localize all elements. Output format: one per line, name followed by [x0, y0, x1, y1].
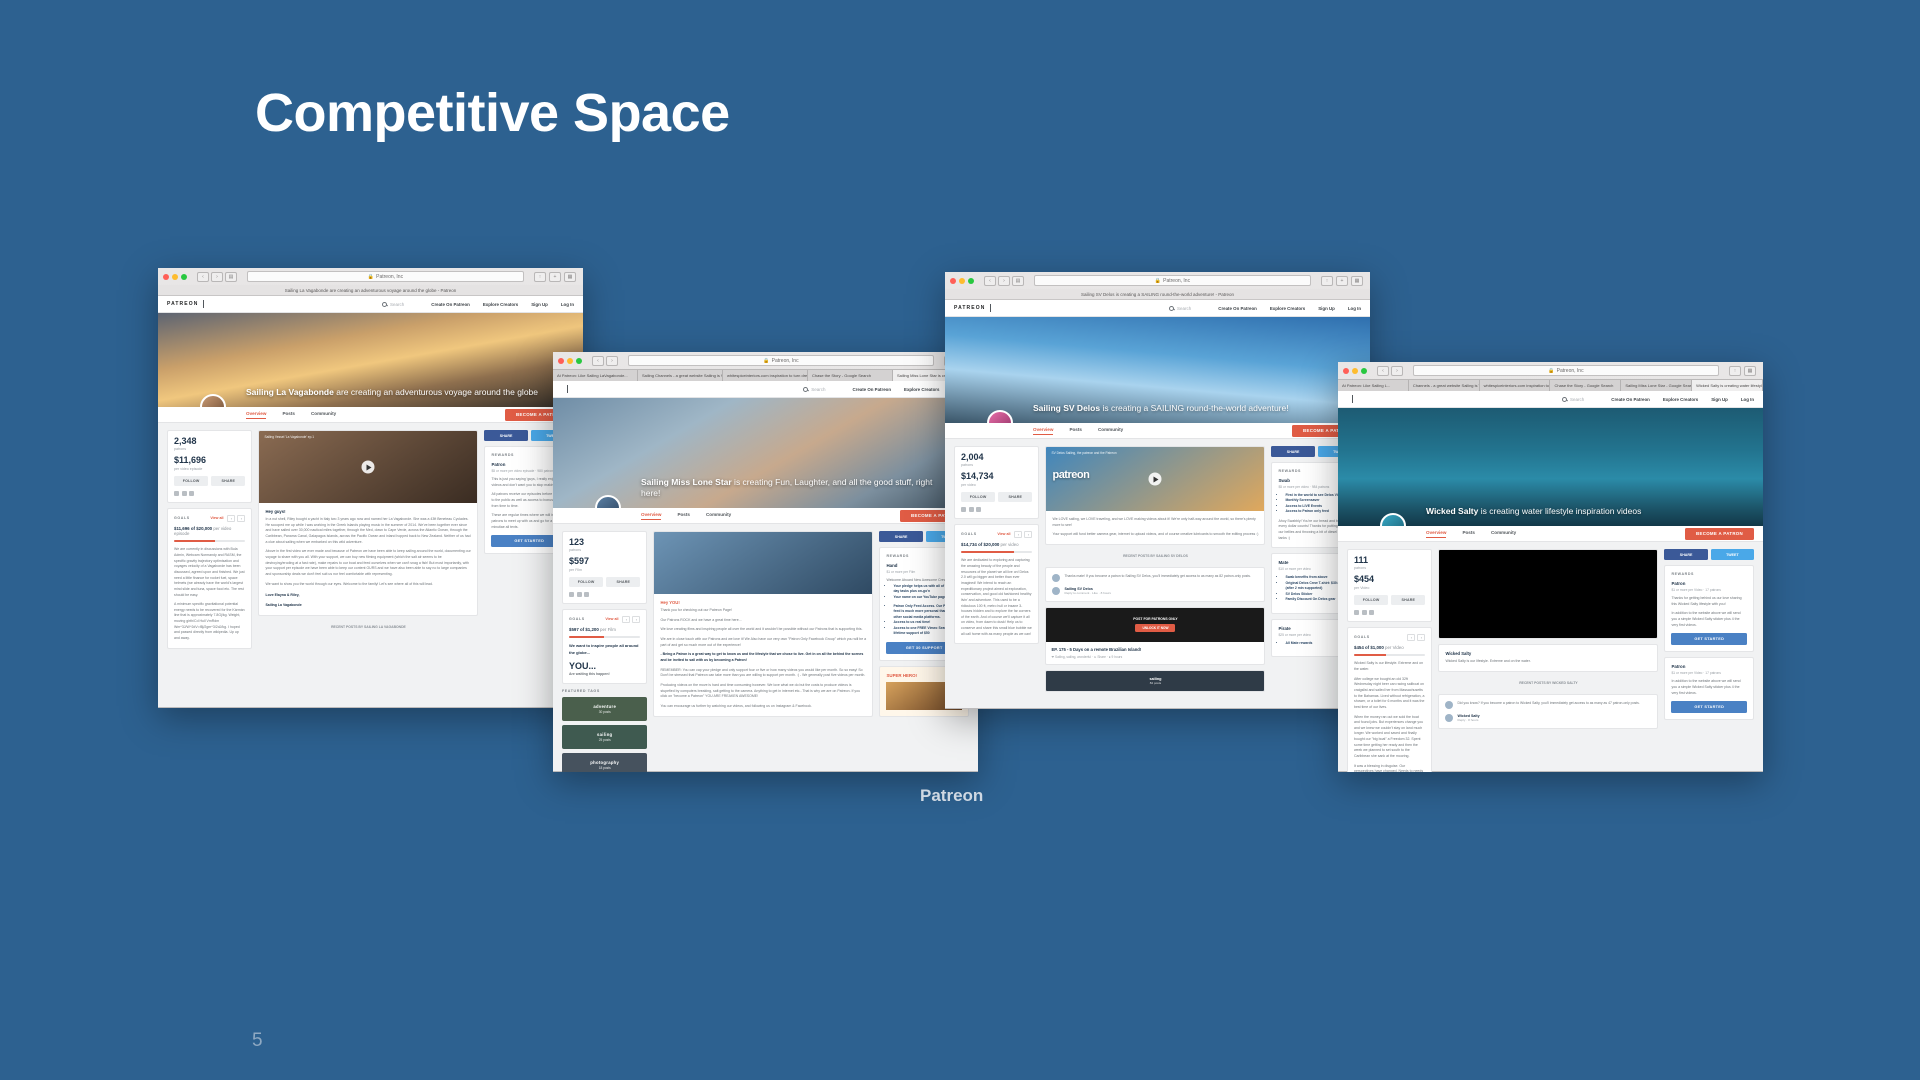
text-cursor: [990, 304, 991, 312]
profile-tabbar[interactable]: Overview Posts Community BECOME A PATRON: [945, 423, 1370, 439]
next-goal-icon[interactable]: ›: [632, 616, 640, 623]
minimize-icon[interactable]: [959, 278, 965, 284]
goal-big-text: YOU...: [569, 662, 640, 671]
tabs-icon[interactable]: ▦: [564, 272, 576, 282]
browser-tab[interactable]: Chase the Story - Google Search: [808, 370, 893, 381]
back-icon[interactable]: ‹: [1377, 366, 1389, 376]
browser-window-vagabonde[interactable]: ‹ › ▤ 🔒 Patreon, Inc ↑ + ▦ Sailing La Va…: [158, 268, 583, 708]
url-text: Patreon, Inc: [772, 358, 799, 364]
post-overlay-text: POST FOR PATRONS ONLY: [1133, 617, 1177, 621]
post-video-card[interactable]: [1438, 549, 1658, 639]
right-column: SHARE TWEET REWARDS Patron $1 or more pe…: [1664, 549, 1754, 720]
share-button[interactable]: SHARE: [606, 577, 640, 587]
patron-count: 2,348: [174, 437, 245, 446]
tag-card[interactable]: photography 18 posts: [562, 753, 647, 772]
tabs-icon[interactable]: ▦: [1351, 276, 1363, 286]
comment-card: Did you know? If you become a patron to …: [1438, 694, 1658, 729]
back-icon[interactable]: ‹: [197, 272, 209, 282]
browser-tab[interactable]: whitespiceinteriors.com inspiration to t…: [1480, 380, 1551, 391]
nav-sign-up[interactable]: Sign Up: [531, 302, 548, 307]
facebook-share-button[interactable]: SHARE: [1271, 446, 1314, 457]
patreon-page: Search Create On Patreon Explore Creator…: [1338, 391, 1763, 771]
nav-explore-creators[interactable]: Explore Creators: [904, 387, 939, 392]
close-icon[interactable]: [950, 278, 956, 284]
goal-progress-bar: [174, 540, 245, 542]
nav-buttons[interactable]: ‹ ›: [592, 356, 618, 366]
share-button[interactable]: SHARE: [211, 476, 245, 486]
post-signoff: Love Elayna & Riley,: [265, 593, 471, 599]
browser-chrome: ‹ › 🔒 Patreon, Inc ↑ ▦ At Patreon: Like …: [553, 352, 978, 772]
tag-card[interactable]: adventure 30 posts: [562, 697, 647, 721]
goal-description-4: It was a blessing in disguise. Our persp…: [1354, 764, 1425, 772]
search-placeholder: Search: [811, 387, 825, 392]
page-body: 123 patrons $597 per Film FOLLOW SHARE: [553, 524, 978, 772]
post-body-8: You can encourage us further by watching…: [660, 704, 866, 710]
tabs-icon[interactable]: ▦: [1744, 366, 1756, 376]
minimize-icon[interactable]: [172, 274, 178, 280]
forward-icon[interactable]: ›: [211, 272, 223, 282]
post-body: We LOVE sailing, we LOVE traveling, and …: [1052, 517, 1258, 528]
creator-tagline: are creating an adventurous voyage aroun…: [334, 387, 538, 397]
close-icon[interactable]: [163, 274, 169, 280]
pledge-unit: per video episode: [174, 467, 245, 471]
tag-name: adventure: [562, 704, 647, 709]
browser-toolbar[interactable]: ‹ › ▤ 🔒 Patreon, Inc ↑ + ▦: [945, 272, 1370, 289]
patron-count: 123: [569, 538, 640, 547]
tag-chip-card[interactable]: sailing 82 posts: [1045, 670, 1265, 692]
share-button[interactable]: SHARE: [998, 492, 1032, 502]
goals-header: GOALS View all ‹ ›: [174, 515, 245, 522]
comment-text: Thanks mate! If you become a patron to S…: [1064, 574, 1250, 579]
featured-tags-section: FEATURED TAGS adventure 30 posts sailing…: [562, 689, 647, 772]
twitter-icon[interactable]: [969, 507, 974, 512]
minimize-icon[interactable]: [1352, 368, 1358, 374]
goal-arrows[interactable]: ‹ ›: [1014, 531, 1032, 538]
goal-arrows[interactable]: ‹ ›: [1407, 634, 1425, 641]
tab-community[interactable]: Community: [1491, 530, 1516, 537]
twitter-icon[interactable]: [1362, 610, 1367, 615]
page-number: 5: [252, 1030, 263, 1052]
lock-icon: 🔒: [1548, 368, 1554, 374]
patreon-page: Search Create On Patreon Explore Creator…: [553, 381, 978, 771]
addtab-icon[interactable]: +: [549, 272, 561, 282]
patreon-navbar[interactable]: Search Create On Patreon Explore Creator…: [553, 381, 978, 398]
post-card: Hey YOU! Thank you for checking out our …: [653, 531, 873, 717]
profile-tabbar[interactable]: Overview Posts Community BECOME A PATRON: [158, 407, 583, 423]
avatar[interactable]: [1380, 513, 1406, 526]
tab-overview[interactable]: Overview: [641, 512, 661, 520]
video-caption: Sailing Vessel 'La Vagabonde' ep.1: [264, 435, 314, 439]
window-traffic-lights[interactable]: [163, 274, 187, 280]
text-cursor: [567, 385, 568, 393]
creator-name: Sailing La Vagabonde: [246, 387, 334, 397]
search-icon: [1169, 306, 1174, 311]
action-buttons[interactable]: FOLLOW SHARE: [174, 476, 245, 486]
search-placeholder: Search: [390, 302, 404, 307]
recent-posts-banner: RECENT POSTS BY SAILING SV DELOS: [1045, 550, 1265, 562]
post-body-6: REMEMBER: You can cap your pledge and on…: [660, 668, 866, 679]
tab-posts[interactable]: Posts: [1069, 427, 1082, 434]
instagram-icon[interactable]: [584, 592, 589, 597]
browser-tab[interactable]: Sailing Channels - a great website Saili…: [638, 370, 723, 381]
maximize-icon[interactable]: [576, 358, 582, 364]
play-icon[interactable]: [362, 461, 375, 474]
facebook-share-button[interactable]: SHARE: [484, 430, 527, 441]
browser-chrome: ‹ › ▤ 🔒 Patreon, Inc ↑ + ▦ Sailing SV De…: [945, 272, 1370, 709]
avatar[interactable]: [987, 410, 1013, 423]
nav-buttons[interactable]: ‹ › ▤: [984, 276, 1024, 286]
toolbar-right[interactable]: ↑ ▦: [1729, 366, 1756, 376]
comment-meta: Reply to comment · Like · 8 hours: [1064, 591, 1110, 595]
nav-create-on-patreon[interactable]: Create On Patreon: [431, 302, 470, 307]
url-text: Patreon, Inc: [1163, 278, 1190, 284]
close-icon[interactable]: [1343, 368, 1349, 374]
comment-card: Thanks mate! If you become a patron to S…: [1045, 567, 1265, 602]
social-share-row[interactable]: SHARE TWEET: [1664, 549, 1754, 560]
stats-card: 2,004 patrons $14,734 per video FOLLOW S…: [954, 446, 1039, 519]
rewards-label: REWARDS: [1671, 572, 1747, 576]
instagram-icon[interactable]: [1369, 610, 1374, 615]
goals-label: GOALS: [569, 617, 585, 621]
share-button[interactable]: SHARE: [1391, 595, 1425, 605]
pledge-amount: $14,734: [961, 472, 1032, 481]
reward-tier-sub: $1 or more per Video · 17 patrons: [1671, 671, 1747, 675]
address-bar[interactable]: 🔒 Patreon, Inc: [1413, 365, 1719, 376]
creator-name: Wicked Salty: [1426, 506, 1478, 516]
hero-banner: Sailing SV Delos is creating a SAILING r…: [945, 317, 1370, 423]
episode-meta: ❤ Sailing, sailing, wonderful · ➤ Share …: [1051, 655, 1259, 659]
browser-toolbar[interactable]: ‹ › ▤ 🔒 Patreon, Inc ↑ + ▦: [158, 268, 583, 285]
nav-buttons[interactable]: ‹ ›: [1377, 366, 1403, 376]
goals-card: GOALS View all ‹ › $597 of $1,200 per Fi…: [562, 609, 647, 684]
goal-description-2: A minimum specific gravitational potenti…: [174, 602, 245, 642]
goal-amount: $597 of $1,200 per Film: [569, 627, 640, 632]
play-icon[interactable]: [1149, 473, 1162, 486]
slide-root: Competitive Space ‹ › ▤ 🔒 Patreon, Inc: [0, 0, 1920, 1080]
avatar[interactable]: [1052, 574, 1060, 582]
avatar[interactable]: [595, 495, 621, 508]
browser-toolbar[interactable]: ‹ › 🔒 Patreon, Inc ↑ ▦: [553, 352, 978, 369]
slide-caption: Patreon: [920, 786, 983, 806]
goal-description: We are currently in discussions with Bul…: [174, 547, 245, 598]
tab-posts[interactable]: Posts: [677, 512, 690, 519]
browser-tab[interactable]: Channels - a great website Sailing is Va…: [1409, 380, 1480, 391]
video-caption: SV Delos Sailing, the patreon and the Pa…: [1051, 451, 1116, 455]
browser-window-wickedsalty[interactable]: ‹ › 🔒 Patreon, Inc ↑ ▦ At Patreon: Like …: [1338, 362, 1763, 772]
goals-header: GOALS View all ‹ ›: [569, 616, 640, 623]
post-body-4: We are in close touch with our Patrons a…: [660, 637, 866, 648]
post-body-3: We love creating films and inspiring peo…: [660, 627, 866, 633]
patreon-navbar[interactable]: Search Create On Patreon Explore Creator…: [1338, 391, 1763, 408]
get-started-button-2[interactable]: GET STARTED: [1671, 701, 1747, 713]
goals-card: GOALS View all ‹ › $14,734 of $20,000 pe…: [954, 524, 1039, 645]
become-patron-button[interactable]: BECOME A PATRON: [1685, 528, 1754, 540]
toolbar-right[interactable]: ↑ + ▦: [1321, 276, 1363, 286]
tab-posts[interactable]: Posts: [1462, 530, 1475, 537]
tab-community[interactable]: Community: [1098, 427, 1123, 434]
creator-name: Sailing Miss Lone Star: [641, 477, 732, 487]
patreon-page: PATREON Search Create On Patreon Explore…: [158, 296, 583, 707]
nav-create-on-patreon[interactable]: Create On Patreon: [1218, 306, 1257, 311]
addtab-icon[interactable]: +: [1336, 276, 1348, 286]
browser-window-delos[interactable]: ‹ › ▤ 🔒 Patreon, Inc ↑ + ▦ Sailing SV De…: [945, 272, 1370, 709]
goal-amount: $14,734 of $20,000 per video: [961, 542, 1032, 547]
twitter-icon[interactable]: [182, 491, 187, 496]
post-card: Sailing Vessel 'La Vagabonde' ep.1 Hey g…: [258, 430, 478, 616]
minimize-icon[interactable]: [567, 358, 573, 364]
goal-description-2: After college we bought an old 32ft Wedn…: [1354, 677, 1425, 711]
sidebar-icon[interactable]: ▤: [225, 272, 237, 282]
hero-banner: Sailing Miss Lone Star is creating Fun, …: [553, 398, 978, 508]
browser-tab-active[interactable]: Wicked Salty is creating water lifestyle…: [1692, 380, 1763, 391]
action-buttons[interactable]: FOLLOW SHARE: [1354, 595, 1425, 605]
tab-community[interactable]: Community: [706, 512, 731, 519]
get-started-button[interactable]: GET STARTED: [1671, 633, 1747, 645]
window-traffic-lights[interactable]: [558, 358, 582, 364]
hero-headline: Sailing Miss Lone Star is creating Fun, …: [641, 477, 947, 500]
patreon-logo[interactable]: PATREON: [954, 305, 985, 311]
toolbar-right[interactable]: ↑ + ▦: [534, 272, 576, 282]
instagram-icon[interactable]: [189, 491, 194, 496]
post-image[interactable]: [654, 532, 872, 594]
follow-button[interactable]: FOLLOW: [961, 492, 995, 502]
left-column: 123 patrons $597 per Film FOLLOW SHARE: [562, 531, 647, 772]
post-video[interactable]: SV Delos Sailing, the patreon and the Pa…: [1046, 447, 1264, 511]
maximize-icon[interactable]: [181, 274, 187, 280]
facebook-icon[interactable]: [569, 592, 574, 597]
browser-toolbar[interactable]: ‹ › 🔒 Patreon, Inc ↑ ▦: [1338, 362, 1763, 379]
patreon-navbar[interactable]: PATREON Search Create On Patreon Explore…: [945, 300, 1370, 317]
goal-progress-bar: [1354, 654, 1425, 656]
goal-amount: $454 of $1,000 per Video: [1354, 645, 1425, 650]
search-input[interactable]: Search: [1169, 306, 1191, 311]
search-icon: [382, 302, 387, 307]
facebook-icon[interactable]: [174, 491, 179, 496]
nav-sign-up[interactable]: Sign Up: [1318, 306, 1335, 311]
window-title: Sailing SV Delos is creating a SAILING r…: [945, 289, 1370, 300]
search-input[interactable]: Search: [803, 387, 825, 392]
post-title: Hey guys!: [265, 509, 471, 514]
patreon-logo[interactable]: PATREON: [167, 301, 198, 307]
browser-tab[interactable]: At Patreon: Like Sailing LaVagabonde...: [553, 370, 638, 381]
reward-tier-sub: $1 or more per Video · 17 patrons: [1671, 588, 1747, 592]
featured-tags-label: FEATURED TAGS: [562, 689, 647, 693]
view-all-link[interactable]: View all: [210, 516, 223, 520]
stats-card: 123 patrons $597 per Film FOLLOW SHARE: [562, 531, 647, 604]
view-all-link[interactable]: View all: [605, 617, 618, 621]
tag-count: 30 posts: [562, 710, 647, 714]
tag-chip-count: 82 posts: [1052, 681, 1258, 685]
pledge-amount: $11,696: [174, 456, 245, 465]
tab-posts[interactable]: Posts: [282, 411, 295, 418]
social-links[interactable]: [174, 491, 245, 496]
share-icon[interactable]: ↑: [534, 272, 546, 282]
middle-column: Sailing Vessel 'La Vagabonde' ep.1 Hey g…: [258, 430, 478, 633]
patrons-label: patrons: [1354, 566, 1425, 570]
forward-icon[interactable]: ›: [1391, 366, 1403, 376]
share-icon[interactable]: ↑: [1729, 366, 1741, 376]
window-traffic-lights[interactable]: [1343, 368, 1367, 374]
follow-button[interactable]: FOLLOW: [174, 476, 208, 486]
forward-icon[interactable]: ›: [998, 276, 1010, 286]
tag-count: 18 posts: [562, 766, 647, 770]
nav-create-on-patreon[interactable]: Create On Patreon: [852, 387, 891, 392]
nav-log-in[interactable]: Log In: [1741, 397, 1754, 402]
post-body-2: Our Patrons ROCK and we have a great tim…: [660, 618, 866, 624]
facebook-icon[interactable]: [961, 507, 966, 512]
page-body: 2,004 patrons $14,734 per video FOLLOW S…: [945, 439, 1370, 699]
nav-explore-creators[interactable]: Explore Creators: [1663, 397, 1698, 402]
back-icon[interactable]: ‹: [592, 356, 604, 366]
post-body-5: - Being a Patron is a great way to get t…: [660, 652, 866, 663]
patron-count: 2,004: [961, 453, 1032, 462]
goal-description-3: When the money ran out we sold the boat …: [1354, 715, 1425, 760]
browser-tab[interactable]: whitespiceinteriors.com inspiration to t…: [723, 370, 808, 381]
post-title: Hey YOU!: [660, 600, 866, 605]
post-body: In a nut shell, Riley bought a yacht in …: [265, 517, 471, 545]
goal-description: We are dedicated to exploring and captur…: [961, 558, 1032, 637]
goal-progress-bar: [569, 636, 640, 638]
page-body: 111 patrons $454 per Video FOLLOW SHARE: [1338, 542, 1763, 772]
patreon-navbar[interactable]: PATREON Search Create On Patreon Explore…: [158, 296, 583, 313]
avatar[interactable]: [1445, 714, 1453, 722]
text-cursor: [203, 300, 204, 308]
pledge-unit: per Video: [1354, 586, 1425, 590]
next-goal-icon[interactable]: ›: [1417, 634, 1425, 641]
address-bar[interactable]: 🔒 Patreon, Inc: [628, 355, 934, 366]
profile-tabbar[interactable]: Overview Posts Community BECOME A PATRON: [553, 508, 978, 524]
left-column: 2,004 patrons $14,734 per video FOLLOW S…: [954, 446, 1039, 644]
social-links[interactable]: [1354, 610, 1425, 615]
tag-name: sailing: [562, 732, 647, 737]
address-bar[interactable]: 🔒 Patreon, Inc: [1034, 275, 1311, 286]
recent-posts-banner: RECENT POSTS BY SAILING LA VAGABONDE: [258, 621, 478, 633]
action-buttons[interactable]: FOLLOW SHARE: [569, 577, 640, 587]
twitter-icon[interactable]: [577, 592, 582, 597]
close-icon[interactable]: [558, 358, 564, 364]
nav-explore-creators[interactable]: Explore Creators: [1270, 306, 1305, 311]
stats-card: 111 patrons $454 per Video FOLLOW SHARE: [1347, 549, 1432, 622]
browser-window-lonestar[interactable]: ‹ › 🔒 Patreon, Inc ↑ ▦ At Patreon: Like …: [553, 352, 978, 772]
tab-strip[interactable]: At Patreon: Like Sailing LaVagabonde... …: [553, 369, 978, 381]
post-card: SV Delos Sailing, the patreon and the Pa…: [1045, 446, 1265, 545]
lock-icon: 🔒: [368, 274, 374, 280]
nav-log-in[interactable]: Log In: [1348, 306, 1361, 311]
goals-card: GOALS View all ‹ › $11,696 of $20,000 pe…: [167, 508, 252, 649]
follow-button[interactable]: FOLLOW: [1354, 595, 1388, 605]
middle-column: Wicked Salty Wicked Salty is our lifesty…: [1438, 549, 1658, 729]
episode-title: EP. 175 - 5 Days on a remote Brazilian I…: [1051, 647, 1259, 652]
tab-community[interactable]: Community: [311, 411, 336, 418]
goal-arrows[interactable]: ‹ ›: [227, 515, 245, 522]
nav-buttons[interactable]: ‹ › ▤: [197, 272, 237, 282]
post-video[interactable]: Sailing Vessel 'La Vagabonde' ep.1: [259, 431, 477, 503]
comment-text: Did you know? If you become a patron to …: [1457, 701, 1639, 706]
profile-tabbar[interactable]: Overview Posts Community BECOME A PATRON: [1338, 526, 1763, 542]
maximize-icon[interactable]: [1361, 368, 1367, 374]
next-goal-icon[interactable]: ›: [237, 515, 245, 522]
nav-explore-creators[interactable]: Explore Creators: [483, 302, 518, 307]
tag-card[interactable]: sailing 25 posts: [562, 725, 647, 749]
follow-button[interactable]: FOLLOW: [569, 577, 603, 587]
back-icon[interactable]: ‹: [984, 276, 996, 286]
nav-create-on-patreon[interactable]: Create On Patreon: [1611, 397, 1650, 402]
browser-tab[interactable]: At Patreon: Like Sailing L...: [1338, 380, 1409, 391]
tag-name: photography: [562, 760, 647, 765]
prev-goal-icon[interactable]: ‹: [622, 616, 630, 623]
avatar[interactable]: [200, 394, 226, 407]
twitter-tweet-button[interactable]: TWEET: [1711, 549, 1754, 560]
social-links[interactable]: [961, 507, 1032, 512]
patron-count: 111: [1354, 556, 1425, 565]
browser-chrome: ‹ › ▤ 🔒 Patreon, Inc ↑ + ▦ Sailing La Va…: [158, 268, 583, 708]
patreon-video-logo: patreon: [1052, 469, 1089, 481]
tab-overview[interactable]: Overview: [246, 411, 266, 419]
locked-post-card: POST FOR PATRONS ONLY UNLOCK IT NOW EP. …: [1045, 607, 1265, 665]
goal-amount: $11,696 of $20,000 per video episode: [174, 526, 245, 536]
view-all-link[interactable]: View all: [997, 532, 1010, 536]
address-bar[interactable]: 🔒 Patreon, Inc: [247, 271, 524, 282]
action-buttons[interactable]: FOLLOW SHARE: [961, 492, 1032, 502]
page-title: Competitive Space: [255, 82, 730, 144]
search-icon: [1562, 397, 1567, 402]
page-body: 2,348 patrons $11,696 per video episode …: [158, 423, 583, 656]
post-title: Wicked Salty: [1445, 651, 1651, 656]
rewards-card-2: Patron $1 or more per Video · 17 patrons…: [1664, 657, 1754, 720]
sidebar-icon[interactable]: ▤: [1012, 276, 1024, 286]
reward-tier-name: Patron: [1671, 581, 1747, 586]
maximize-icon[interactable]: [968, 278, 974, 284]
locked-post-media[interactable]: POST FOR PATRONS ONLY UNLOCK IT NOW: [1046, 608, 1264, 642]
browser-tab[interactable]: Sailing Miss Lone Star - Google Search: [1621, 380, 1692, 391]
patreon-page: PATREON Search Create On Patreon Explore…: [945, 300, 1370, 708]
share-icon[interactable]: ↑: [1321, 276, 1333, 286]
hero-banner: Sailing La Vagabonde are creating an adv…: [158, 313, 583, 407]
stats-card: 2,348 patrons $11,696 per video episode …: [167, 430, 252, 503]
nav-sign-up[interactable]: Sign Up: [1711, 397, 1728, 402]
avatar[interactable]: [1445, 701, 1453, 709]
tab-overview[interactable]: Overview: [1033, 427, 1053, 435]
nav-log-in[interactable]: Log In: [561, 302, 574, 307]
next-goal-icon[interactable]: ›: [1024, 531, 1032, 538]
search-icon: [803, 387, 808, 392]
facebook-icon[interactable]: [1354, 610, 1359, 615]
pledge-amount: $454: [1354, 575, 1425, 584]
facebook-share-button[interactable]: SHARE: [1664, 549, 1707, 560]
tab-overview[interactable]: Overview: [1426, 530, 1446, 538]
social-links[interactable]: [569, 592, 640, 597]
comment-row: Did you know? If you become a patron to …: [1445, 701, 1651, 709]
prev-goal-icon[interactable]: ‹: [227, 515, 235, 522]
forward-icon[interactable]: ›: [606, 356, 618, 366]
window-traffic-lights[interactable]: [950, 278, 974, 284]
search-input[interactable]: Search: [1562, 397, 1584, 402]
instagram-icon[interactable]: [976, 507, 981, 512]
goal-arrows[interactable]: ‹ ›: [622, 616, 640, 623]
avatar[interactable]: [1052, 587, 1060, 595]
reward-body: In addition to the website above we will…: [1671, 679, 1747, 696]
tab-strip[interactable]: At Patreon: Like Sailing L... Channels -…: [1338, 379, 1763, 391]
browser-chrome: ‹ › 🔒 Patreon, Inc ↑ ▦ At Patreon: Like …: [1338, 362, 1763, 772]
search-input[interactable]: Search: [382, 302, 404, 307]
pledge-unit: per Film: [569, 568, 640, 572]
goals-label: GOALS: [1354, 635, 1370, 639]
unlock-button[interactable]: UNLOCK IT NOW: [1135, 624, 1175, 632]
facebook-share-button[interactable]: SHARE: [879, 531, 922, 542]
prev-goal-icon[interactable]: ‹: [1407, 634, 1415, 641]
prev-goal-icon[interactable]: ‹: [1014, 531, 1022, 538]
browser-tab[interactable]: Chase the Story - Google Search: [1550, 380, 1621, 391]
